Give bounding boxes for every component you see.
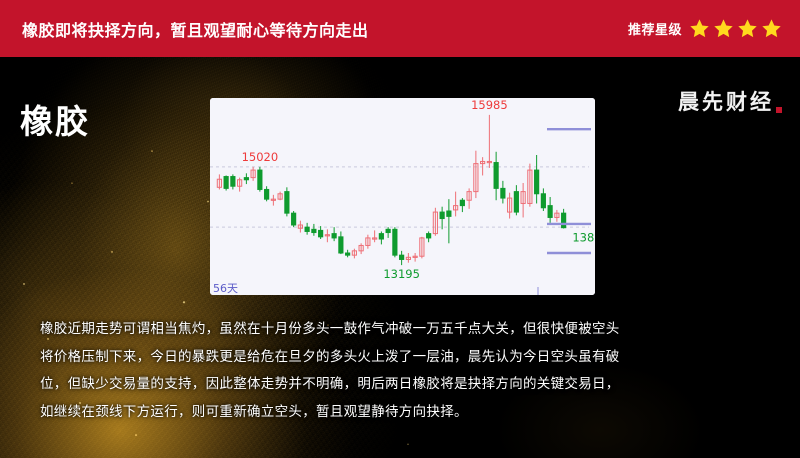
candle-body bbox=[535, 170, 539, 194]
analysis-line: 将价格压制下来，今日的暴跌更是给危在旦夕的多头火上泼了一层油，晨先认为今日空头虽… bbox=[40, 344, 765, 372]
candle-body bbox=[339, 237, 343, 253]
commodity-title: 橡胶 bbox=[20, 95, 90, 143]
candle-body bbox=[292, 213, 296, 225]
chart-annotation: 13195 bbox=[383, 267, 420, 281]
candle-body bbox=[244, 178, 248, 180]
star-icon bbox=[761, 18, 782, 39]
chart-annotation: 15020 bbox=[242, 150, 279, 164]
candle-body bbox=[440, 212, 444, 218]
star-icon bbox=[737, 18, 758, 39]
candle-body bbox=[379, 234, 383, 239]
candlestick bbox=[224, 175, 228, 190]
candle-body bbox=[305, 227, 309, 231]
candle-body bbox=[514, 192, 518, 212]
news-card-page: 橡胶即将抉择方向，暂且观望耐心等待方向走出 推荐星级 晨先财经 橡胶 15020… bbox=[0, 0, 800, 458]
candle-body bbox=[400, 255, 404, 259]
analysis-line: 橡胶近期走势可谓相当焦灼，虽然在十月份多头一鼓作气冲破一万五千点大关，但很快便被… bbox=[40, 316, 765, 344]
candle-body bbox=[231, 177, 235, 187]
candle-body bbox=[332, 234, 336, 238]
rating-label: 推荐星级 bbox=[628, 19, 682, 38]
candle-body bbox=[501, 188, 505, 198]
candlestick-chart-panel[interactable]: 1502015985131951387556天 bbox=[210, 98, 595, 295]
candlestick bbox=[292, 211, 296, 227]
header-bar: 橡胶即将抉择方向，暂且观望耐心等待方向走出 推荐星级 bbox=[0, 0, 800, 57]
analysis-paragraph: 橡胶近期走势可谓相当焦灼，虽然在十月份多头一鼓作气冲破一万五千点大关，但很快便被… bbox=[40, 316, 765, 426]
candle-body bbox=[319, 230, 323, 236]
candle-body bbox=[562, 213, 566, 228]
chart-annotation: 15985 bbox=[471, 98, 508, 112]
candle-body bbox=[460, 200, 464, 205]
analysis-line: 位，但缺少交易量的支持，因此整体走势并不明确，明后两日橡胶将是抉择方向的关键交易… bbox=[40, 371, 765, 399]
brand-name-text: 晨先财经 bbox=[678, 86, 774, 116]
candle-body bbox=[386, 229, 390, 232]
candle-body bbox=[548, 206, 552, 218]
brand-dot-icon bbox=[776, 107, 782, 113]
candle-body bbox=[494, 163, 498, 189]
candle-body bbox=[265, 189, 269, 199]
chart-period-label: 56天 bbox=[213, 282, 238, 295]
chart-annotation: 13875 bbox=[572, 231, 595, 245]
headline-text: 橡胶即将抉择方向，暂且观望耐心等待方向走出 bbox=[22, 17, 369, 41]
candle-body bbox=[224, 177, 228, 189]
analysis-line: 如继续在颈线下方运行，则可重新确立空头，暂且观望静待方向抉择。 bbox=[40, 399, 765, 427]
star-rating-group bbox=[689, 18, 782, 39]
star-icon bbox=[713, 18, 734, 39]
candle-body bbox=[312, 229, 316, 232]
candle-body bbox=[427, 234, 431, 238]
candlestick bbox=[393, 227, 397, 257]
candlestick-chart[interactable]: 1502015985131951387556天 bbox=[210, 98, 595, 295]
candle-body bbox=[258, 170, 262, 189]
candle-body bbox=[541, 194, 545, 208]
candle-body bbox=[285, 192, 289, 214]
candle-body bbox=[393, 229, 397, 255]
candlestick bbox=[285, 187, 289, 216]
star-icon bbox=[689, 18, 710, 39]
brand-logo: 晨先财经 bbox=[678, 86, 782, 116]
recommendation-rating: 推荐星级 bbox=[628, 18, 782, 39]
candle-body bbox=[447, 211, 451, 216]
candlestick bbox=[258, 167, 262, 192]
candle-body bbox=[346, 253, 350, 255]
